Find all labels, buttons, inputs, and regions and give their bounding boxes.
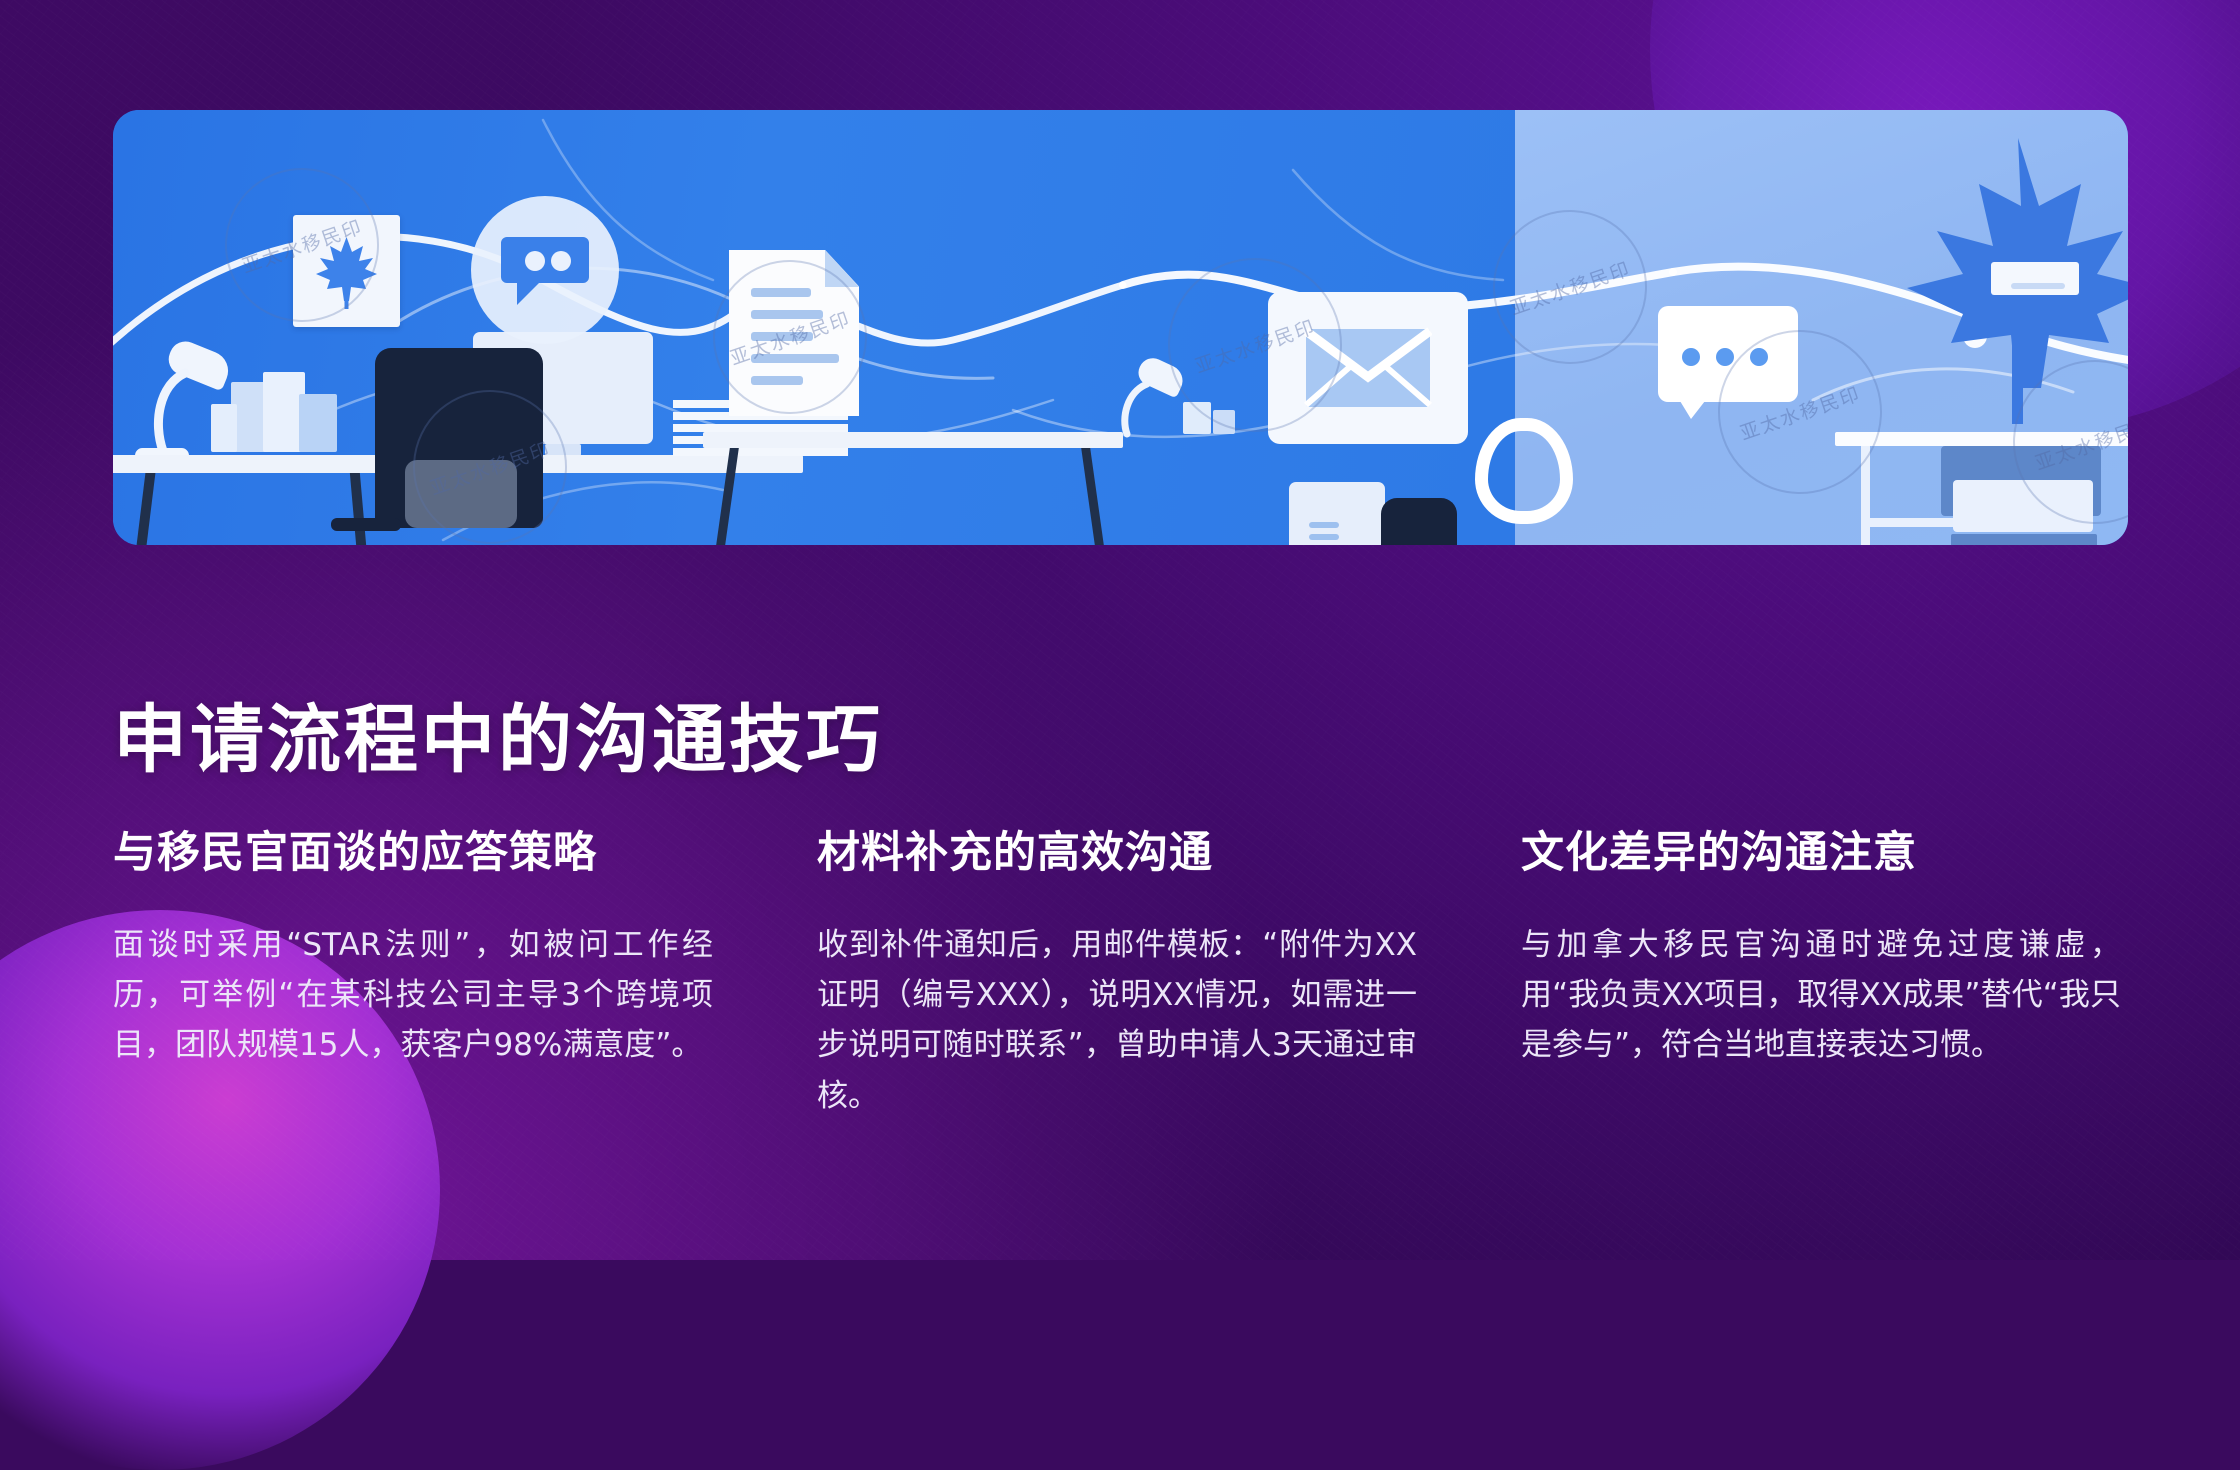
bubble-dot: [1682, 348, 1700, 366]
chair-lower: [1951, 534, 2097, 545]
tip-column-3: 文化差异的沟通注意 与加拿大移民官沟通时避免过度谦虚，用“我负责XX项目，取得X…: [1521, 818, 2121, 1121]
bubble-dot: [1716, 348, 1734, 366]
tip-column-1: 与移民官面谈的应答策略 面谈时采用“STAR法则”，如被问工作经历，可举例“在某…: [113, 818, 713, 1121]
chat-circle-icon: [471, 196, 619, 344]
paper-stack: [673, 424, 848, 432]
paper-stack: [673, 448, 848, 456]
column-body: 面谈时采用“STAR法则”，如被问工作经历，可举例“在某科技公司主导3个跨境项目…: [113, 920, 713, 1071]
page-title: 申请流程中的沟通技巧: [113, 680, 883, 787]
desk-surface-middle: [703, 432, 1123, 448]
tips-columns: 与移民官面谈的应答策略 面谈时采用“STAR法则”，如被问工作经历，可举例“在某…: [113, 818, 2133, 1121]
column-heading: 与移民官面谈的应答策略: [113, 818, 713, 880]
column-heading: 文化差异的沟通注意: [1521, 818, 2121, 880]
lamp-arm: [1113, 378, 1168, 440]
monitor-text-line: [1309, 534, 1339, 540]
location-pin-icon: [1475, 418, 1573, 524]
column-heading: 材料补充的高效沟通: [817, 818, 1417, 880]
monitor-text-line: [1309, 522, 1339, 528]
column-body: 与加拿大移民官沟通时避免过度谦虚，用“我负责XX项目，取得XX成果”替代“我只是…: [1521, 920, 2121, 1071]
chat-bubble-glyph: [499, 231, 591, 309]
book-item: [211, 404, 237, 452]
office-chair: [1381, 498, 1457, 545]
tip-column-2: 材料补充的高效沟通 收到补件通知后，用邮件模板：“附件为XX证明（编号XXX），…: [817, 818, 1417, 1121]
hero-illustration-card: 亚太水移民印 亚太水移民印 亚太水移民印 亚太水移民印 亚太水移民印 亚太水移民…: [113, 110, 2128, 545]
book-item: [299, 394, 337, 452]
lamp-arm: [141, 365, 211, 460]
chair-base: [331, 518, 401, 531]
name-tag-line: [2011, 283, 2065, 289]
column-body: 收到补件通知后，用邮件模板：“附件为XX证明（编号XXX），说明XX情况，如需进…: [817, 920, 1417, 1121]
name-tag-card: [1991, 262, 2079, 295]
